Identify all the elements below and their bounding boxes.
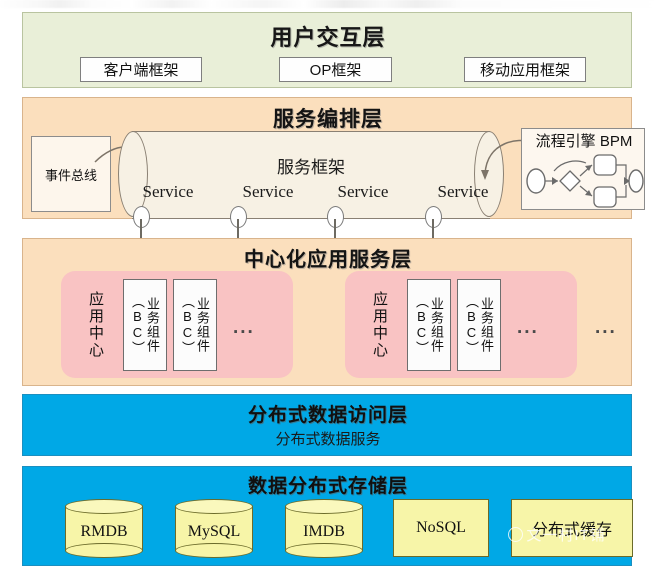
bc-label-sub-1b: （BC） xyxy=(180,295,195,355)
business-component-1b[interactable]: 业务组件 （BC） xyxy=(173,279,217,371)
business-component-1a[interactable]: 业务组件 （BC） xyxy=(123,279,167,371)
app-center-label-1: 应用中心 xyxy=(79,283,111,367)
bpm-flow-icon xyxy=(524,149,644,209)
layer-title-user-interaction: 用户交互层 xyxy=(23,20,633,52)
app-center-group-1: 应用中心 业务组件 （BC） 业务组件 （BC） ... xyxy=(61,271,293,378)
database-cylinder-rmdb[interactable]: RMDB xyxy=(65,499,143,557)
bc-label-main-2a: 业务组件 xyxy=(429,297,444,353)
business-component-2a[interactable]: 业务组件 （BC） xyxy=(407,279,451,371)
cylinder-top-imdb xyxy=(285,499,363,514)
framework-box-op[interactable]: OP框架 xyxy=(279,57,392,82)
database-cylinder-imdb[interactable]: IMDB xyxy=(285,499,363,557)
layer-user-interaction: 用户交互层 客户端框架 OP框架 移动应用框架 xyxy=(22,12,632,88)
group-ellipsis-1: ... xyxy=(233,317,255,339)
bc-label-main-1b: 业务组件 xyxy=(195,297,210,353)
layer-centralized-app-service: 中心化应用服务层 应用中心 业务组件 （BC） 业务组件 （BC） ... 应用… xyxy=(22,238,632,386)
bc-label-main-1a: 业务组件 xyxy=(145,297,160,353)
storage-box-distributed-cache[interactable]: 分布式缓存 xyxy=(511,499,633,557)
app-center-group-2: 应用中心 业务组件 （BC） 业务组件 （BC） ... xyxy=(345,271,577,378)
bpm-engine-box[interactable]: 流程引擎 BPM xyxy=(521,128,645,210)
layer-title-distributed-storage: 数据分布式存储层 xyxy=(23,471,633,498)
top-blurred-strip xyxy=(0,0,661,8)
distributed-data-service-label: 分布式数据服务 xyxy=(23,428,633,449)
group-ellipsis-2: ... xyxy=(517,317,539,339)
service-node-2[interactable]: Service xyxy=(228,182,308,202)
service-node-3[interactable]: Service xyxy=(323,182,403,202)
bc-label-sub-1a: （BC） xyxy=(130,295,145,355)
cylinder-top-mysql xyxy=(175,499,253,514)
layer-title-distributed-data-access: 分布式数据访问层 xyxy=(23,400,633,427)
bc-label-main-2b: 业务组件 xyxy=(479,297,494,353)
architecture-diagram: 用户交互层 客户端框架 OP框架 移动应用框架 服务编排层 事件总线 服务框架 … xyxy=(0,0,661,575)
layer-title-centralized-app-service: 中心化应用服务层 xyxy=(23,243,633,272)
service-framework-label: 服务框架 xyxy=(118,153,504,178)
bc-label-sub-2a: （BC） xyxy=(414,295,429,355)
business-component-2b[interactable]: 业务组件 （BC） xyxy=(457,279,501,371)
service-framework-tube: 服务框架 Service Service Service Service xyxy=(118,131,504,217)
framework-box-mobile[interactable]: 移动应用框架 xyxy=(464,57,586,82)
outer-ellipsis: ... xyxy=(595,317,617,339)
storage-box-nosql[interactable]: NoSQL xyxy=(393,499,489,557)
bpm-engine-label: 流程引擎 BPM xyxy=(522,130,646,151)
layer-distributed-data-access: 分布式数据访问层 分布式数据服务 xyxy=(22,394,632,456)
database-cylinder-mysql[interactable]: MySQL xyxy=(175,499,253,557)
database-label-rmdb: RMDB xyxy=(65,515,143,547)
cylinder-top-rmdb xyxy=(65,499,143,514)
database-label-imdb: IMDB xyxy=(285,515,363,547)
app-center-label-2: 应用中心 xyxy=(363,283,395,367)
layer-distributed-storage: 数据分布式存储层 RMDB MySQL IMDB NoSQL 分布式缓存 xyxy=(22,466,632,566)
bc-label-sub-2b: （BC） xyxy=(464,295,479,355)
framework-box-client[interactable]: 客户端框架 xyxy=(80,57,202,82)
database-label-mysql: MySQL xyxy=(188,515,240,547)
service-node-1[interactable]: Service xyxy=(128,182,208,202)
layer-service-orchestration: 服务编排层 事件总线 服务框架 Service Service Service … xyxy=(22,97,632,219)
